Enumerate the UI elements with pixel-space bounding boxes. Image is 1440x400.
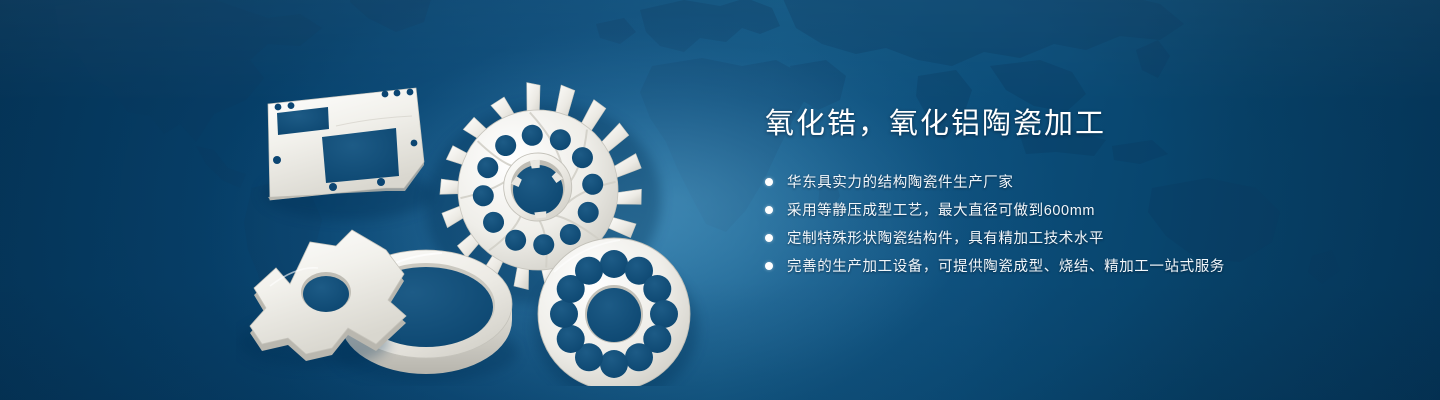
list-item: 完善的生产加工设备，可提供陶瓷成型、烧结、精加工一站式服务 <box>765 254 1385 277</box>
list-item: 华东具实力的结构陶瓷件生产厂家 <box>765 170 1385 193</box>
ceramic-cross-plate <box>238 230 406 368</box>
list-item: 定制特殊形状陶瓷结构件，具有精加工技术水平 <box>765 226 1385 249</box>
promo-banner: 氧化锆，氧化铝陶瓷加工 华东具实力的结构陶瓷件生产厂家 采用等静压成型工艺，最大… <box>0 0 1440 400</box>
banner-headline: 氧化锆，氧化铝陶瓷加工 <box>765 106 1385 142</box>
bullet-dot-icon <box>765 262 773 270</box>
bullet-dot-icon <box>765 178 773 186</box>
feature-text: 定制特殊形状陶瓷结构件，具有精加工技术水平 <box>787 227 1104 248</box>
bullet-dot-icon <box>765 234 773 242</box>
feature-list: 华东具实力的结构陶瓷件生产厂家 采用等静压成型工艺，最大直径可做到600mm 定… <box>765 170 1385 277</box>
feature-text: 完善的生产加工设备，可提供陶瓷成型、烧结、精加工一站式服务 <box>787 255 1225 276</box>
bullet-dot-icon <box>765 206 773 214</box>
banner-copy: 氧化锆，氧化铝陶瓷加工 华东具实力的结构陶瓷件生产厂家 采用等静压成型工艺，最大… <box>765 106 1385 282</box>
feature-text: 采用等静压成型工艺，最大直径可做到600mm <box>787 199 1095 220</box>
ceramic-plate-with-cutouts <box>262 88 434 220</box>
feature-text: 华东具实力的结构陶瓷件生产厂家 <box>787 171 1014 192</box>
ceramic-products-image <box>236 42 720 386</box>
list-item: 采用等静压成型工艺，最大直径可做到600mm <box>765 198 1385 221</box>
